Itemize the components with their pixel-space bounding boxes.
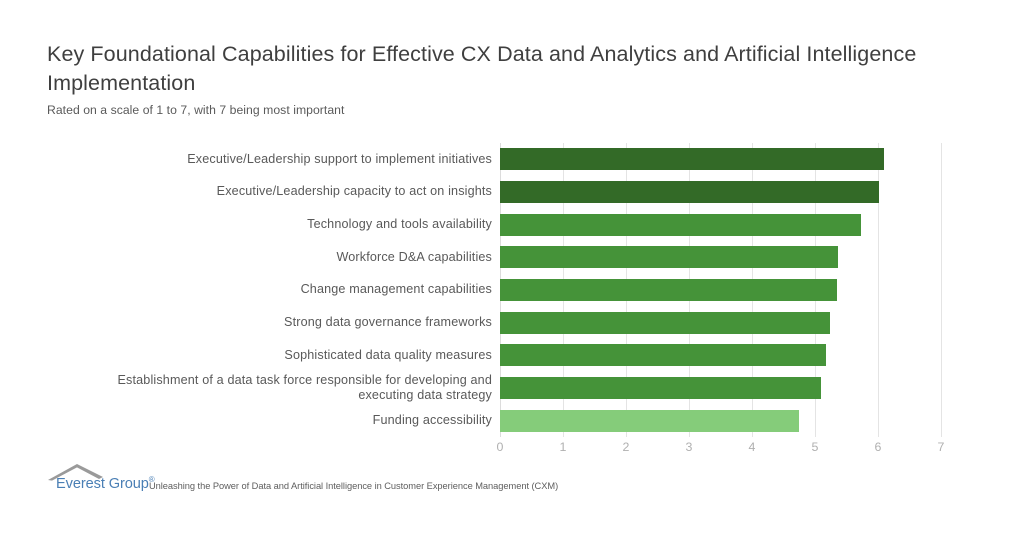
category-label-line: Executive/Leadership capacity to act on … — [217, 184, 492, 199]
category-label-line: Technology and tools availability — [307, 217, 492, 232]
x-tick-label-6: 6 — [875, 440, 882, 454]
gridline-7 — [941, 143, 942, 437]
registered-trademark-icon: ® — [149, 475, 155, 484]
bar-row[interactable] — [500, 372, 941, 405]
bar-row[interactable] — [500, 176, 941, 209]
bar-row[interactable] — [500, 274, 941, 307]
category-label-line: Change management capabilities — [301, 282, 492, 297]
category-label-line: Sophisticated data quality measures — [284, 348, 492, 363]
everest-group-logo: Everest Group® — [47, 463, 145, 493]
y-axis-category-labels: Executive/Leadership support to implemen… — [60, 143, 492, 437]
chart-plot-area — [500, 143, 941, 437]
x-axis-ticks: 01234567 — [500, 440, 941, 460]
x-tick-label-4: 4 — [749, 440, 756, 454]
bar[interactable] — [500, 279, 837, 301]
bar[interactable] — [500, 344, 826, 366]
bar-row[interactable] — [500, 306, 941, 339]
bar-row[interactable] — [500, 404, 941, 437]
chart-subtitle: Rated on a scale of 1 to 7, with 7 being… — [47, 103, 992, 117]
logo-wordmark: Everest Group® — [56, 475, 155, 492]
category-label: Strong data governance frameworks — [60, 306, 492, 339]
category-label: Change management capabilities — [60, 274, 492, 307]
bar[interactable] — [500, 410, 799, 432]
category-label: Establishment of a data task force respo… — [60, 372, 492, 405]
bar[interactable] — [500, 377, 821, 399]
category-label: Funding accessibility — [60, 404, 492, 437]
chart-header: Key Foundational Capabilities for Effect… — [47, 40, 992, 117]
bar[interactable] — [500, 181, 879, 203]
category-label: Workforce D&A capabilities — [60, 241, 492, 274]
category-label-line: Workforce D&A capabilities — [336, 250, 492, 265]
category-label-line: executing data strategy — [118, 388, 493, 403]
page-title: Key Foundational Capabilities for Effect… — [47, 40, 992, 97]
chart-page: Key Foundational Capabilities for Effect… — [0, 0, 1024, 536]
footer-caption: Unleashing the Power of Data and Artific… — [149, 481, 558, 493]
x-tick-label-3: 3 — [686, 440, 693, 454]
category-label-line: Executive/Leadership support to implemen… — [187, 152, 492, 167]
logo-name: Everest Group — [56, 476, 149, 492]
bar-rows — [500, 143, 941, 437]
category-label: Technology and tools availability — [60, 208, 492, 241]
category-label-line: Funding accessibility — [373, 413, 492, 428]
bar-row[interactable] — [500, 241, 941, 274]
category-label: Executive/Leadership support to implemen… — [60, 143, 492, 176]
category-label: Executive/Leadership capacity to act on … — [60, 176, 492, 209]
bar[interactable] — [500, 214, 861, 236]
bar[interactable] — [500, 148, 884, 170]
x-tick-label-7: 7 — [938, 440, 945, 454]
x-tick-label-1: 1 — [560, 440, 567, 454]
x-tick-label-0: 0 — [497, 440, 504, 454]
category-label-line: Establishment of a data task force respo… — [118, 373, 493, 388]
bar[interactable] — [500, 312, 830, 334]
category-label-line: Strong data governance frameworks — [284, 315, 492, 330]
bar-row[interactable] — [500, 143, 941, 176]
bar-row[interactable] — [500, 339, 941, 372]
bar[interactable] — [500, 246, 838, 268]
footer: Everest Group® Unleashing the Power of D… — [47, 463, 558, 493]
bar-row[interactable] — [500, 208, 941, 241]
x-tick-label-2: 2 — [623, 440, 630, 454]
category-label: Sophisticated data quality measures — [60, 339, 492, 372]
x-tick-label-5: 5 — [812, 440, 819, 454]
